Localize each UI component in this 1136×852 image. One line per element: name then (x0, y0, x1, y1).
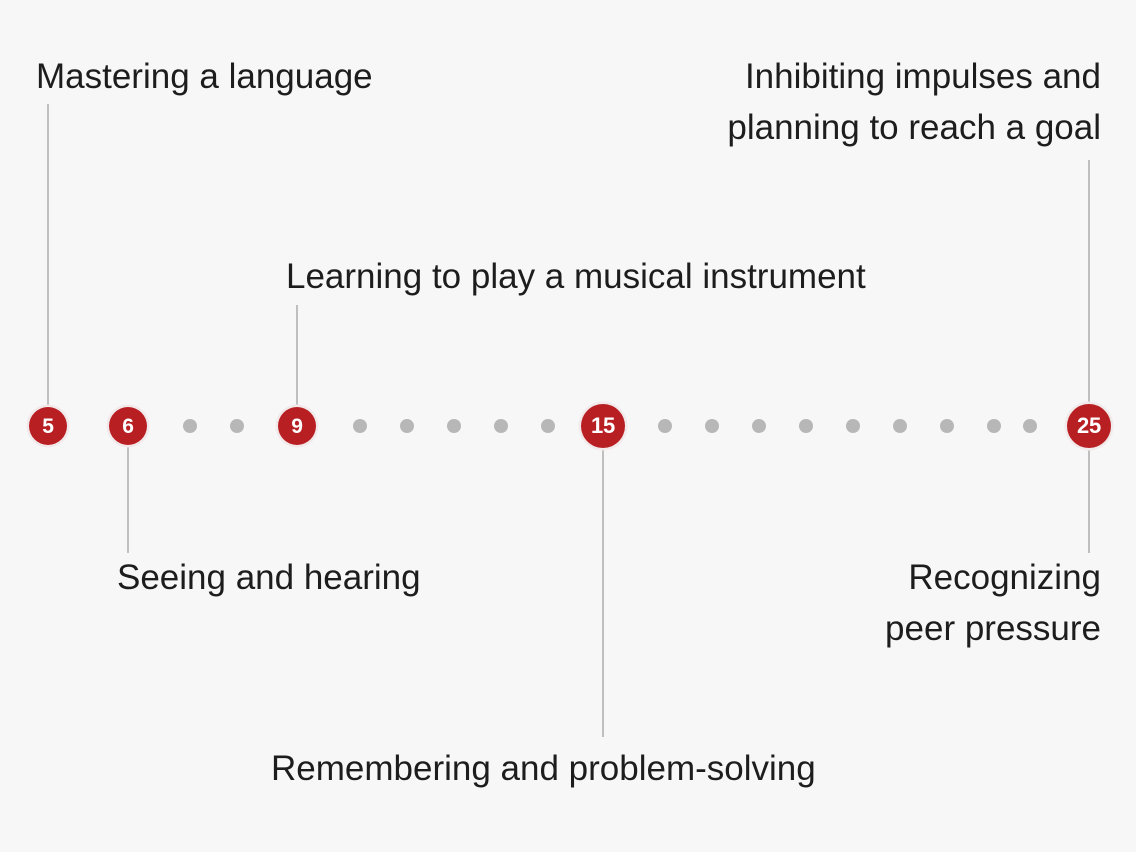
leader-line-age-6 (127, 446, 129, 553)
axis-dot (987, 419, 1001, 433)
milestone-marker-age-25[interactable]: 25 (1067, 404, 1111, 448)
axis-dot (447, 419, 461, 433)
axis-dot (893, 419, 907, 433)
axis-dot (846, 419, 860, 433)
callout-label-age-25-above: Inhibiting impulses and planning to reac… (727, 52, 1101, 154)
milestone-age-label: 25 (1077, 415, 1101, 437)
leader-line-age-9 (296, 305, 298, 407)
milestone-marker-age-15[interactable]: 15 (581, 404, 625, 448)
callout-label-age-9: Learning to play a musical instrument (286, 252, 866, 303)
leader-line-age-5 (47, 104, 49, 407)
milestone-age-label: 5 (42, 416, 53, 437)
axis-dot (799, 419, 813, 433)
milestone-age-label: 9 (291, 416, 302, 437)
axis-dot (541, 419, 555, 433)
callout-label-age-6: Seeing and hearing (117, 553, 421, 604)
milestone-marker-age-9[interactable]: 9 (278, 407, 316, 445)
axis-dot (658, 419, 672, 433)
leader-line-age-25-below (1088, 450, 1090, 553)
milestone-marker-age-6[interactable]: 6 (109, 407, 147, 445)
callout-label-age-25-below: Recognizing peer pressure (885, 553, 1101, 655)
callout-label-age-15: Remembering and problem-solving (271, 744, 816, 795)
axis-dot (752, 419, 766, 433)
axis-dot (1023, 419, 1037, 433)
axis-dot (183, 419, 197, 433)
milestone-marker-age-5[interactable]: 5 (29, 407, 67, 445)
timeline-figure: 5 6 9 15 25 Mastering a language Seeing … (0, 0, 1136, 852)
milestone-age-label: 6 (122, 416, 133, 437)
axis-dot (400, 419, 414, 433)
axis-dot (940, 419, 954, 433)
axis-dot (230, 419, 244, 433)
milestone-age-label: 15 (591, 415, 615, 437)
axis-dot (705, 419, 719, 433)
callout-label-age-5: Mastering a language (36, 52, 373, 103)
axis-dot (494, 419, 508, 433)
leader-line-age-25-above (1088, 160, 1090, 404)
leader-line-age-15 (602, 450, 604, 737)
axis-dot (353, 419, 367, 433)
